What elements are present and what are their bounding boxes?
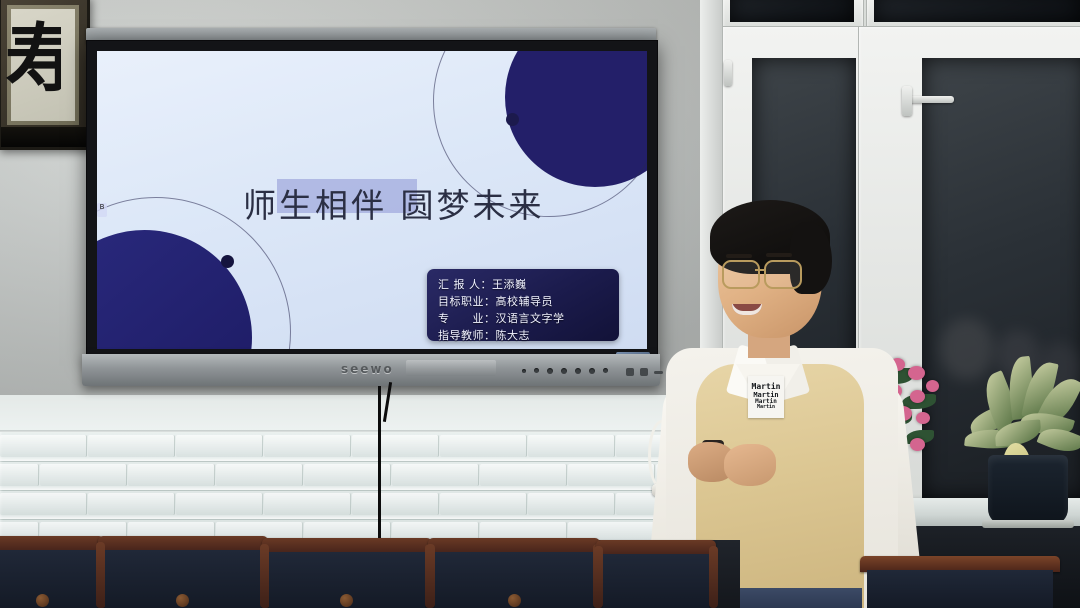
chair[interactable] bbox=[262, 538, 432, 608]
window-handle[interactable] bbox=[906, 96, 954, 103]
display-brand-logo: seewo bbox=[341, 362, 394, 376]
framed-calligraphy: 寿 bbox=[0, 0, 90, 150]
chair-post bbox=[426, 544, 435, 608]
chair-backrest bbox=[867, 570, 1053, 608]
chair[interactable] bbox=[0, 536, 104, 608]
chair[interactable] bbox=[428, 538, 600, 608]
chair-knob bbox=[36, 594, 49, 607]
photo-scene: 寿 bbox=[0, 0, 1080, 608]
chair-backrest bbox=[603, 554, 709, 608]
art-frame-bottom bbox=[1, 127, 87, 147]
info-line-target-career: 目标职业：高校辅导员 bbox=[438, 293, 553, 309]
eyebrow-left bbox=[726, 254, 752, 258]
info-line-advisor: 指导教师：陈大志 bbox=[438, 327, 530, 343]
glasses-lens-left bbox=[722, 260, 760, 289]
chair-post bbox=[260, 544, 269, 608]
interactive-display[interactable]: B 师生相伴 圆梦未来 汇 报 人：王添巍 目标职业：高校辅导员 专 业：汉语言… bbox=[86, 28, 656, 386]
glasses-bridge bbox=[755, 269, 766, 271]
display-ir-strip bbox=[406, 360, 496, 376]
art-mat: 寿 bbox=[7, 5, 79, 125]
brick-row bbox=[0, 432, 740, 462]
info-line-major: 专 业：汉语言文字学 bbox=[438, 310, 565, 326]
chair-knob bbox=[508, 594, 521, 607]
speaker-hole bbox=[561, 368, 567, 374]
chair[interactable] bbox=[596, 540, 716, 608]
slide-title: 师生相伴 圆梦未来 bbox=[243, 179, 545, 227]
wainscot-brick-panel bbox=[0, 432, 740, 548]
brick-row bbox=[0, 461, 740, 491]
calligraphy-character: 寿 bbox=[5, 15, 61, 111]
window-hinge-upper bbox=[902, 86, 912, 116]
speaker-hole bbox=[534, 368, 539, 373]
speaker-hole bbox=[575, 368, 581, 374]
speaker-hole bbox=[603, 368, 608, 373]
glasses-lens-right bbox=[764, 260, 802, 289]
window-pane-transom-left bbox=[730, 0, 854, 22]
chair-knob bbox=[176, 594, 189, 607]
display-power-button[interactable] bbox=[626, 368, 634, 376]
speaker-hole bbox=[589, 368, 595, 374]
chair-knob bbox=[340, 594, 353, 607]
display-screen[interactable]: B 师生相伴 圆梦未来 汇 报 人：王添巍 目标职业：高校辅导员 专 业：汉语言… bbox=[97, 51, 647, 349]
chair-post bbox=[709, 546, 718, 608]
plant-saucer bbox=[982, 520, 1074, 528]
vest-logo-patch: Martin Martin Martin Martin bbox=[748, 376, 784, 418]
info-line-presenter: 汇 报 人：王添巍 bbox=[438, 276, 527, 292]
display-frame: B 师生相伴 圆梦未来 汇 报 人：王添巍 目标职业：高校辅导员 专 业：汉语言… bbox=[86, 40, 658, 360]
art-paper: 寿 bbox=[11, 9, 75, 121]
patch-text-4: Martin bbox=[757, 405, 775, 410]
slide-info-box: 汇 报 人：王添巍 目标职业：高校辅导员 专 业：汉语言文字学 指导教师：陈大志 bbox=[427, 269, 619, 341]
plant-pot bbox=[988, 455, 1068, 525]
eyebrow-right bbox=[766, 253, 792, 257]
wall-white-band bbox=[0, 395, 740, 435]
chair[interactable] bbox=[860, 556, 1060, 608]
chair-post bbox=[96, 542, 105, 608]
slide-dot-top-right bbox=[506, 113, 519, 126]
chair-post bbox=[594, 546, 603, 608]
window-hinge-lower bbox=[724, 60, 732, 86]
chair[interactable] bbox=[98, 536, 268, 608]
presenter-hand-right bbox=[724, 444, 776, 486]
slide-dot-bottom-left bbox=[221, 255, 234, 268]
brick-row bbox=[0, 490, 740, 520]
window-pane-transom-right bbox=[874, 0, 1080, 22]
speaker-hole bbox=[547, 368, 553, 374]
speaker-hole bbox=[522, 369, 526, 373]
slide-corner-tab: B bbox=[97, 203, 107, 217]
